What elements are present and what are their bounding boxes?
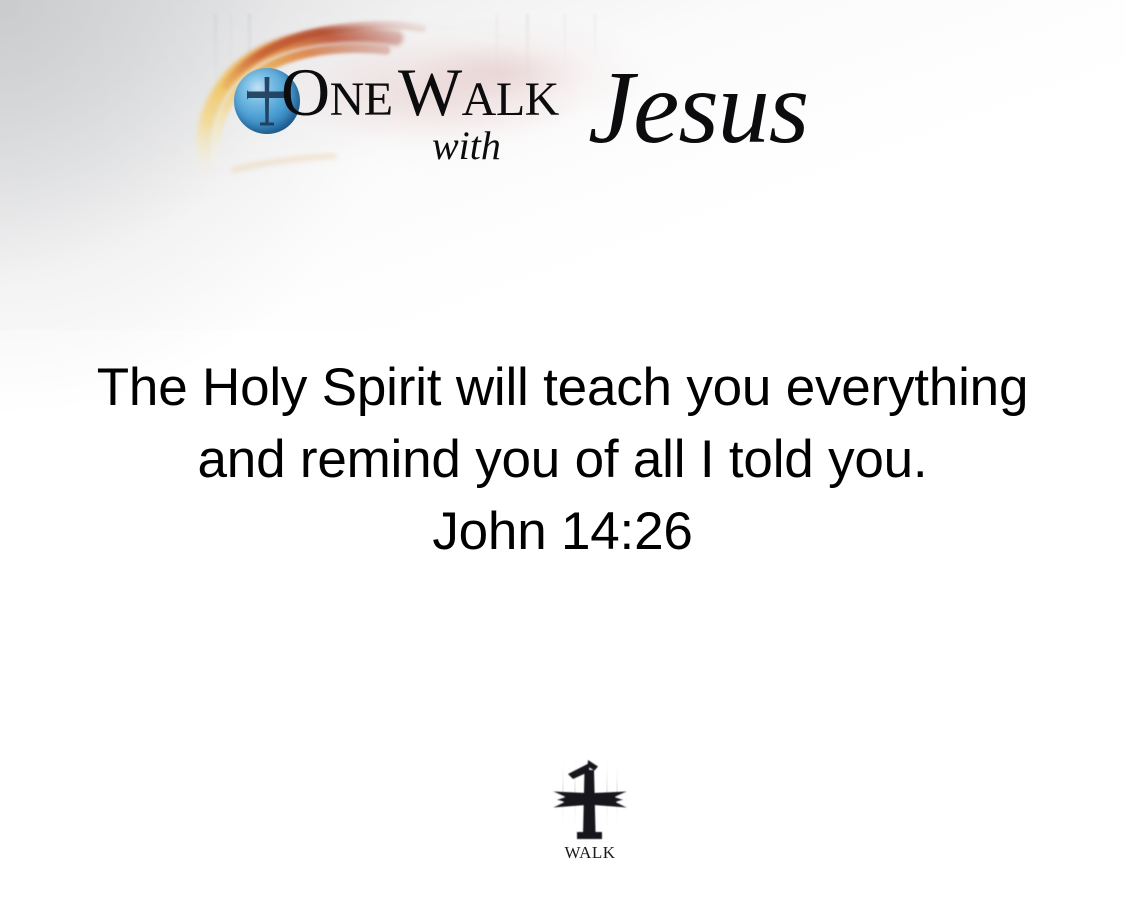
footer-walk-label: WALK (540, 844, 640, 861)
logo-word-one: One (281, 58, 393, 126)
scripture-line-2: and remind you of all I told you. (0, 424, 1125, 496)
footer-brand-mark: WALK (540, 748, 640, 873)
site-logo: One Walk with Jesus (186, 14, 946, 194)
cross-one-icon (540, 748, 640, 848)
slide-canvas: One Walk with Jesus The Holy Spirit will… (0, 0, 1125, 912)
scripture-reference: John 14:26 (0, 496, 1125, 568)
logo-word-jesus: Jesus (588, 56, 808, 160)
logo-word-with: with (432, 126, 501, 166)
scripture-block: The Holy Spirit will teach you everythin… (0, 352, 1125, 568)
logo-word-walk: Walk (398, 58, 559, 126)
scripture-line-1: The Holy Spirit will teach you everythin… (0, 352, 1125, 424)
